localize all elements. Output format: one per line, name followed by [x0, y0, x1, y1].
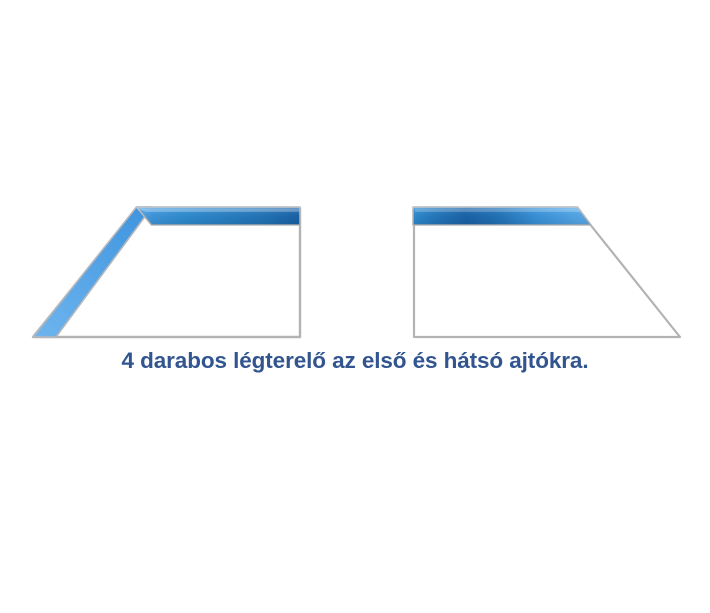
rear-band-highlight: [415, 209, 581, 213]
product-illustration: 4 darabos légterelő az első és hátsó ajt…: [0, 0, 710, 613]
wind-deflector-diagram: [0, 0, 710, 613]
rear-door-wind-deflector: [413, 207, 680, 337]
front-panel-body: [33, 208, 300, 337]
rear-panel-body: [414, 208, 680, 337]
front-band-highlight: [138, 209, 299, 213]
rear-deflector-band: [413, 207, 591, 225]
front-door-wind-deflector: [33, 207, 300, 337]
